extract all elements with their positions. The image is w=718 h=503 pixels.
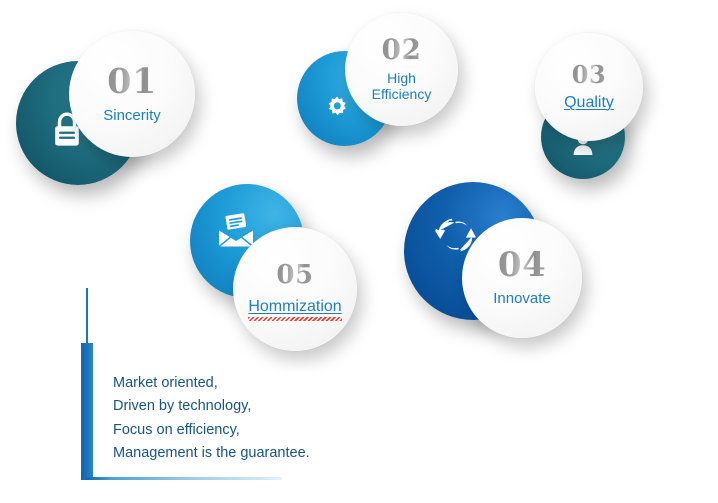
item-number-05: 05 (276, 262, 313, 288)
item-number-01: 01 (107, 64, 157, 99)
item-label-01: Sincerity (103, 108, 161, 125)
item-label-02: High Efficiency (372, 71, 432, 102)
infographic-canvas: 01 Sincerity 02 High Efficiency 03 Quali… (0, 0, 718, 503)
info-circle-04[interactable]: 04 Innovate (462, 218, 582, 338)
item-label-04: Innovate (493, 291, 551, 308)
item-number-03: 03 (572, 63, 606, 87)
slogan-text: Market oriented, Driven by technology, F… (113, 372, 443, 466)
bracket-thin-line (86, 288, 88, 344)
bracket-base-line (86, 477, 282, 480)
gear-icon (324, 94, 350, 125)
item-number-04: 04 (498, 248, 546, 282)
info-circle-01[interactable]: 01 Sincerity (69, 31, 195, 157)
item-label-05-wrapper: Hommization (248, 298, 341, 316)
info-circle-02[interactable]: 02 High Efficiency (345, 13, 458, 126)
info-circle-03[interactable]: 03 Quality (535, 33, 643, 141)
item-label-03: Quality (564, 94, 614, 112)
item-number-02: 02 (382, 36, 422, 64)
info-circle-05[interactable]: 05 Hommization (233, 227, 357, 351)
bracket-accent-bar (81, 343, 93, 480)
item-label-05: Hommization (248, 298, 341, 315)
